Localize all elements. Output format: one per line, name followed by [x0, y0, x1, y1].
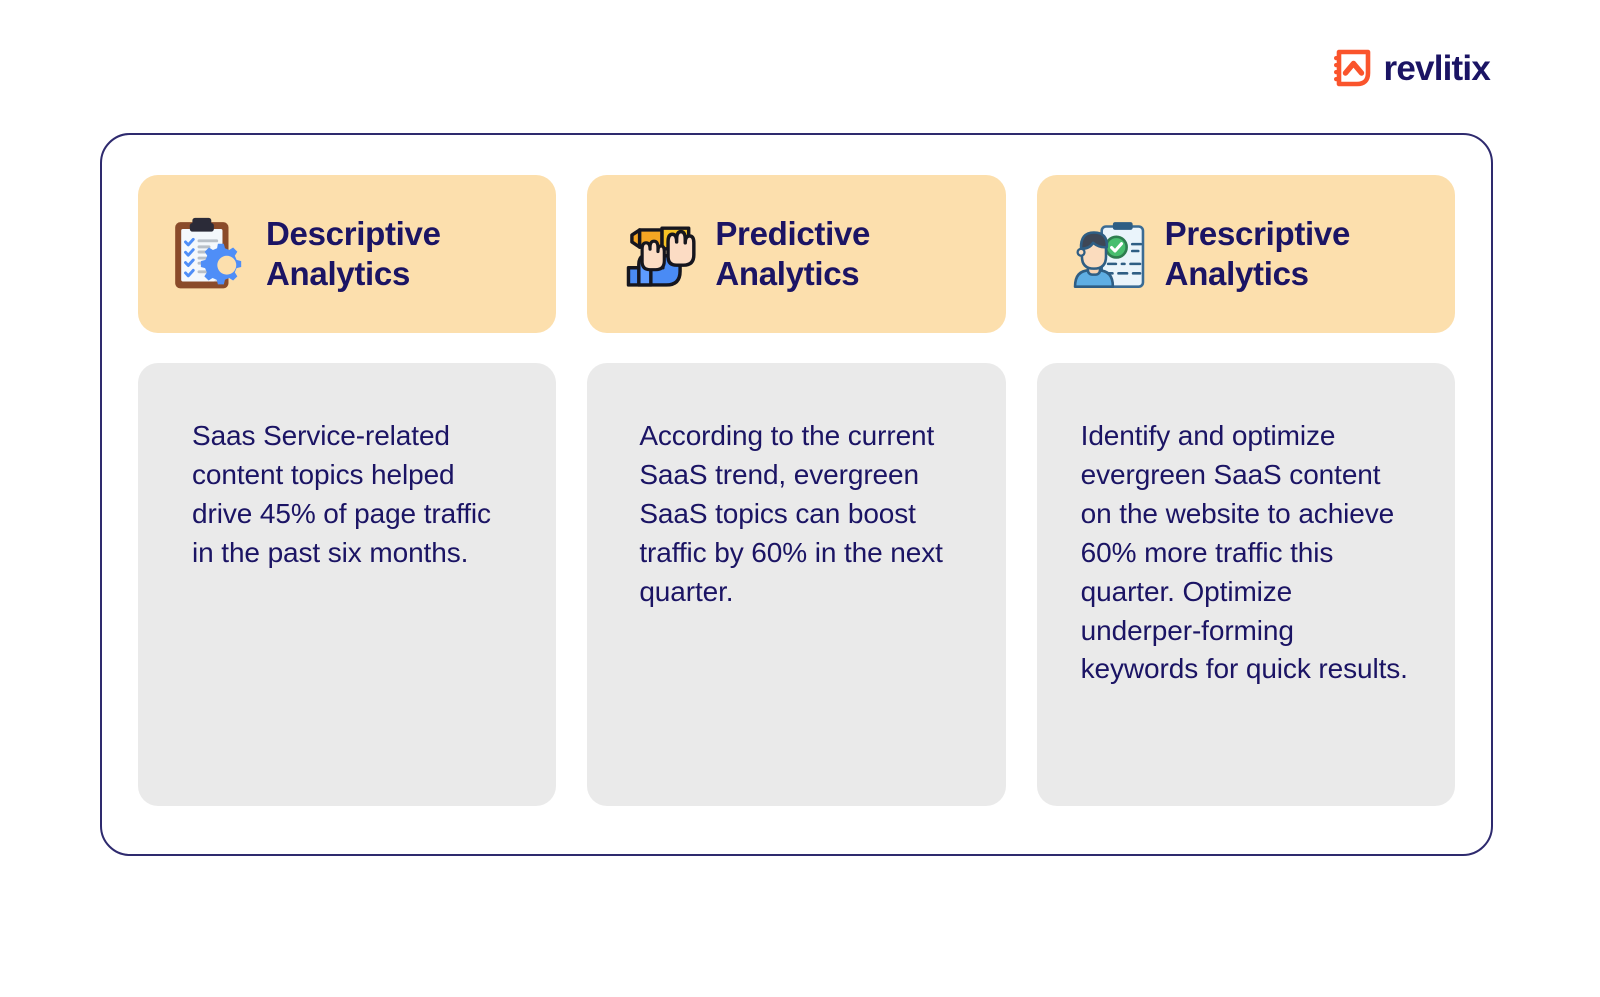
header-card-prescriptive[interactable]: Prescriptive Analytics [1037, 175, 1455, 333]
header-title-descriptive: Descriptive Analytics [266, 214, 441, 295]
body-text-predictive: According to the current SaaS trend, eve… [639, 417, 965, 612]
brand-logo[interactable]: revlitix [1332, 48, 1490, 88]
infographic-page: revlitix [0, 0, 1600, 997]
revlitix-notebook-arrow-icon [1332, 48, 1372, 88]
header-card-descriptive[interactable]: Descriptive Analytics [138, 175, 556, 333]
body-card-prescriptive: Identify and optimize evergreen SaaS con… [1037, 363, 1455, 806]
hands-telescope-icon [613, 211, 699, 297]
clipboard-gear-icon [164, 211, 250, 297]
content-panel: Descriptive Analytics [100, 133, 1493, 856]
header-card-predictive[interactable]: Predictive Analytics [587, 175, 1005, 333]
body-text-prescriptive: Identify and optimize evergreen SaaS con… [1081, 417, 1415, 689]
body-card-descriptive: Saas Service-related content topics help… [138, 363, 556, 806]
body-card-predictive: According to the current SaaS trend, eve… [587, 363, 1005, 806]
analytics-grid: Descriptive Analytics [138, 175, 1455, 806]
brand-name: revlitix [1384, 51, 1490, 86]
header-title-prescriptive: Prescriptive Analytics [1165, 214, 1350, 295]
body-text-descriptive: Saas Service-related content topics help… [192, 417, 516, 573]
person-checklist-icon [1063, 211, 1149, 297]
header-title-predictive: Predictive Analytics [715, 214, 870, 295]
